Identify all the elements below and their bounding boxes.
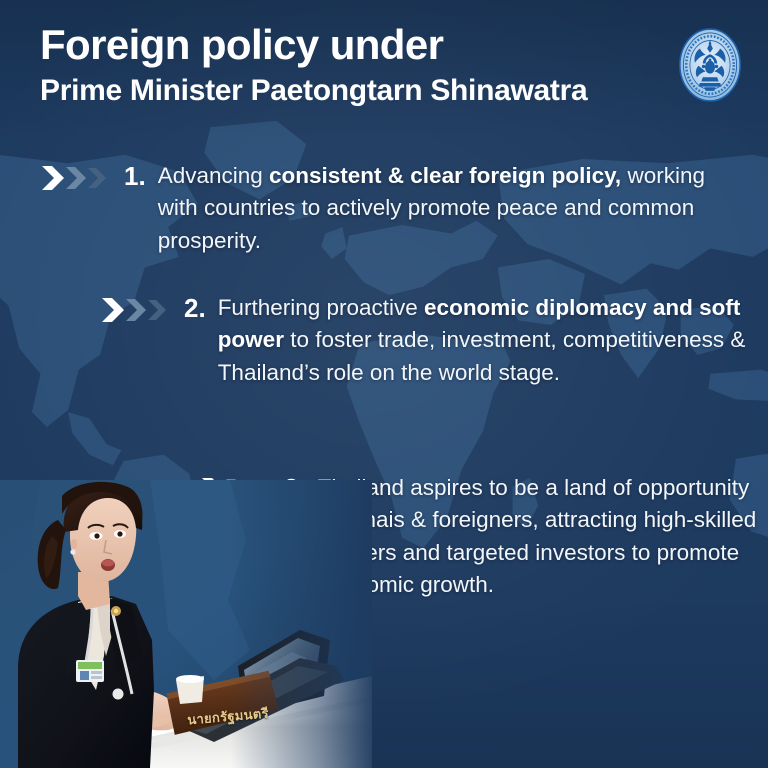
thai-mfa-seal-icon [674,24,746,106]
triple-chevron-right-icon [100,297,176,323]
page-title: Foreign policy under [40,22,738,67]
point-number: 1. [124,160,146,193]
woman-at-podium-photo [0,480,372,768]
seal-graphic [674,24,746,106]
header: Foreign policy under Prime Minister Paet… [40,22,738,109]
page-subtitle: Prime Minister Paetongtarn Shinawatra [40,73,738,109]
policy-point-1: 1. Advancing consistent & clear foreign … [40,160,715,257]
chevron-group-2 [100,297,176,323]
point-number: 2. [184,292,206,325]
chevron-group-1 [40,165,116,191]
policy-point-2: 2. Furthering proactive economic diploma… [100,292,760,389]
point-text: Thailand aspires to be a land of opportu… [318,472,760,602]
triple-chevron-right-icon [40,165,116,191]
point-text: Furthering proactive economic diplomacy … [218,292,760,389]
poster-canvas: Foreign policy under Prime Minister Paet… [0,0,768,768]
point-text: Advancing consistent & clear foreign pol… [158,160,715,257]
photo-illustration [0,480,372,768]
